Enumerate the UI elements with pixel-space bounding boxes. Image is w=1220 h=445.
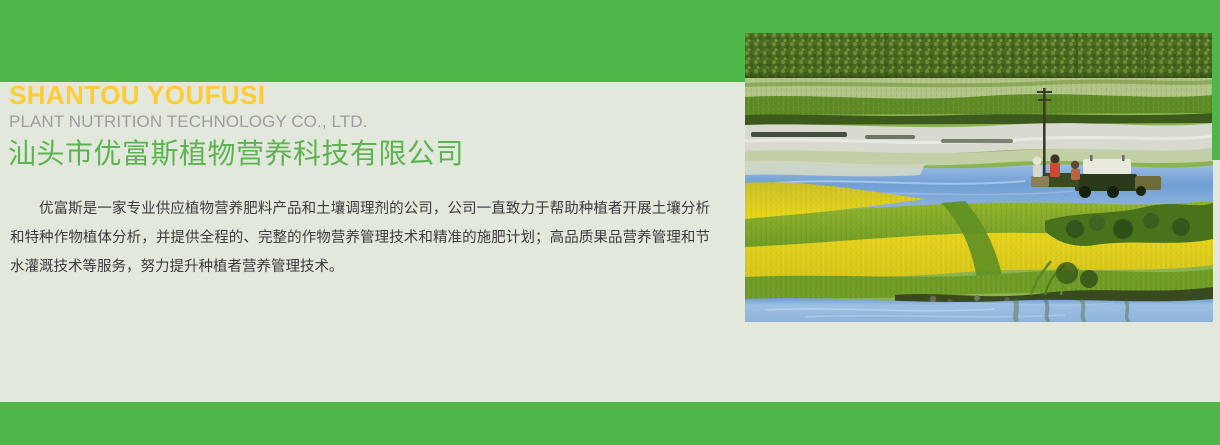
company-name-chinese: 汕头市优富斯植物营养科技有限公司 — [8, 140, 464, 168]
hero-photo-illustration — [745, 33, 1213, 322]
page-root: SHANTOU YOUFUSI PLANT NUTRITION TECHNOLO… — [0, 0, 1220, 445]
company-tagline-english: PLANT NUTRITION TECHNOLOGY CO., LTD. — [9, 113, 367, 130]
about-paragraph: 优富斯是一家专业供应植物营养肥料产品和土壤调理剂的公司，公司一直致力于帮助种植者… — [10, 195, 710, 282]
hero-photo — [745, 33, 1213, 322]
right-green-accent — [1212, 0, 1220, 160]
bottom-green-band — [0, 402, 1220, 445]
company-name-english: SHANTOU YOUFUSI — [9, 82, 265, 108]
